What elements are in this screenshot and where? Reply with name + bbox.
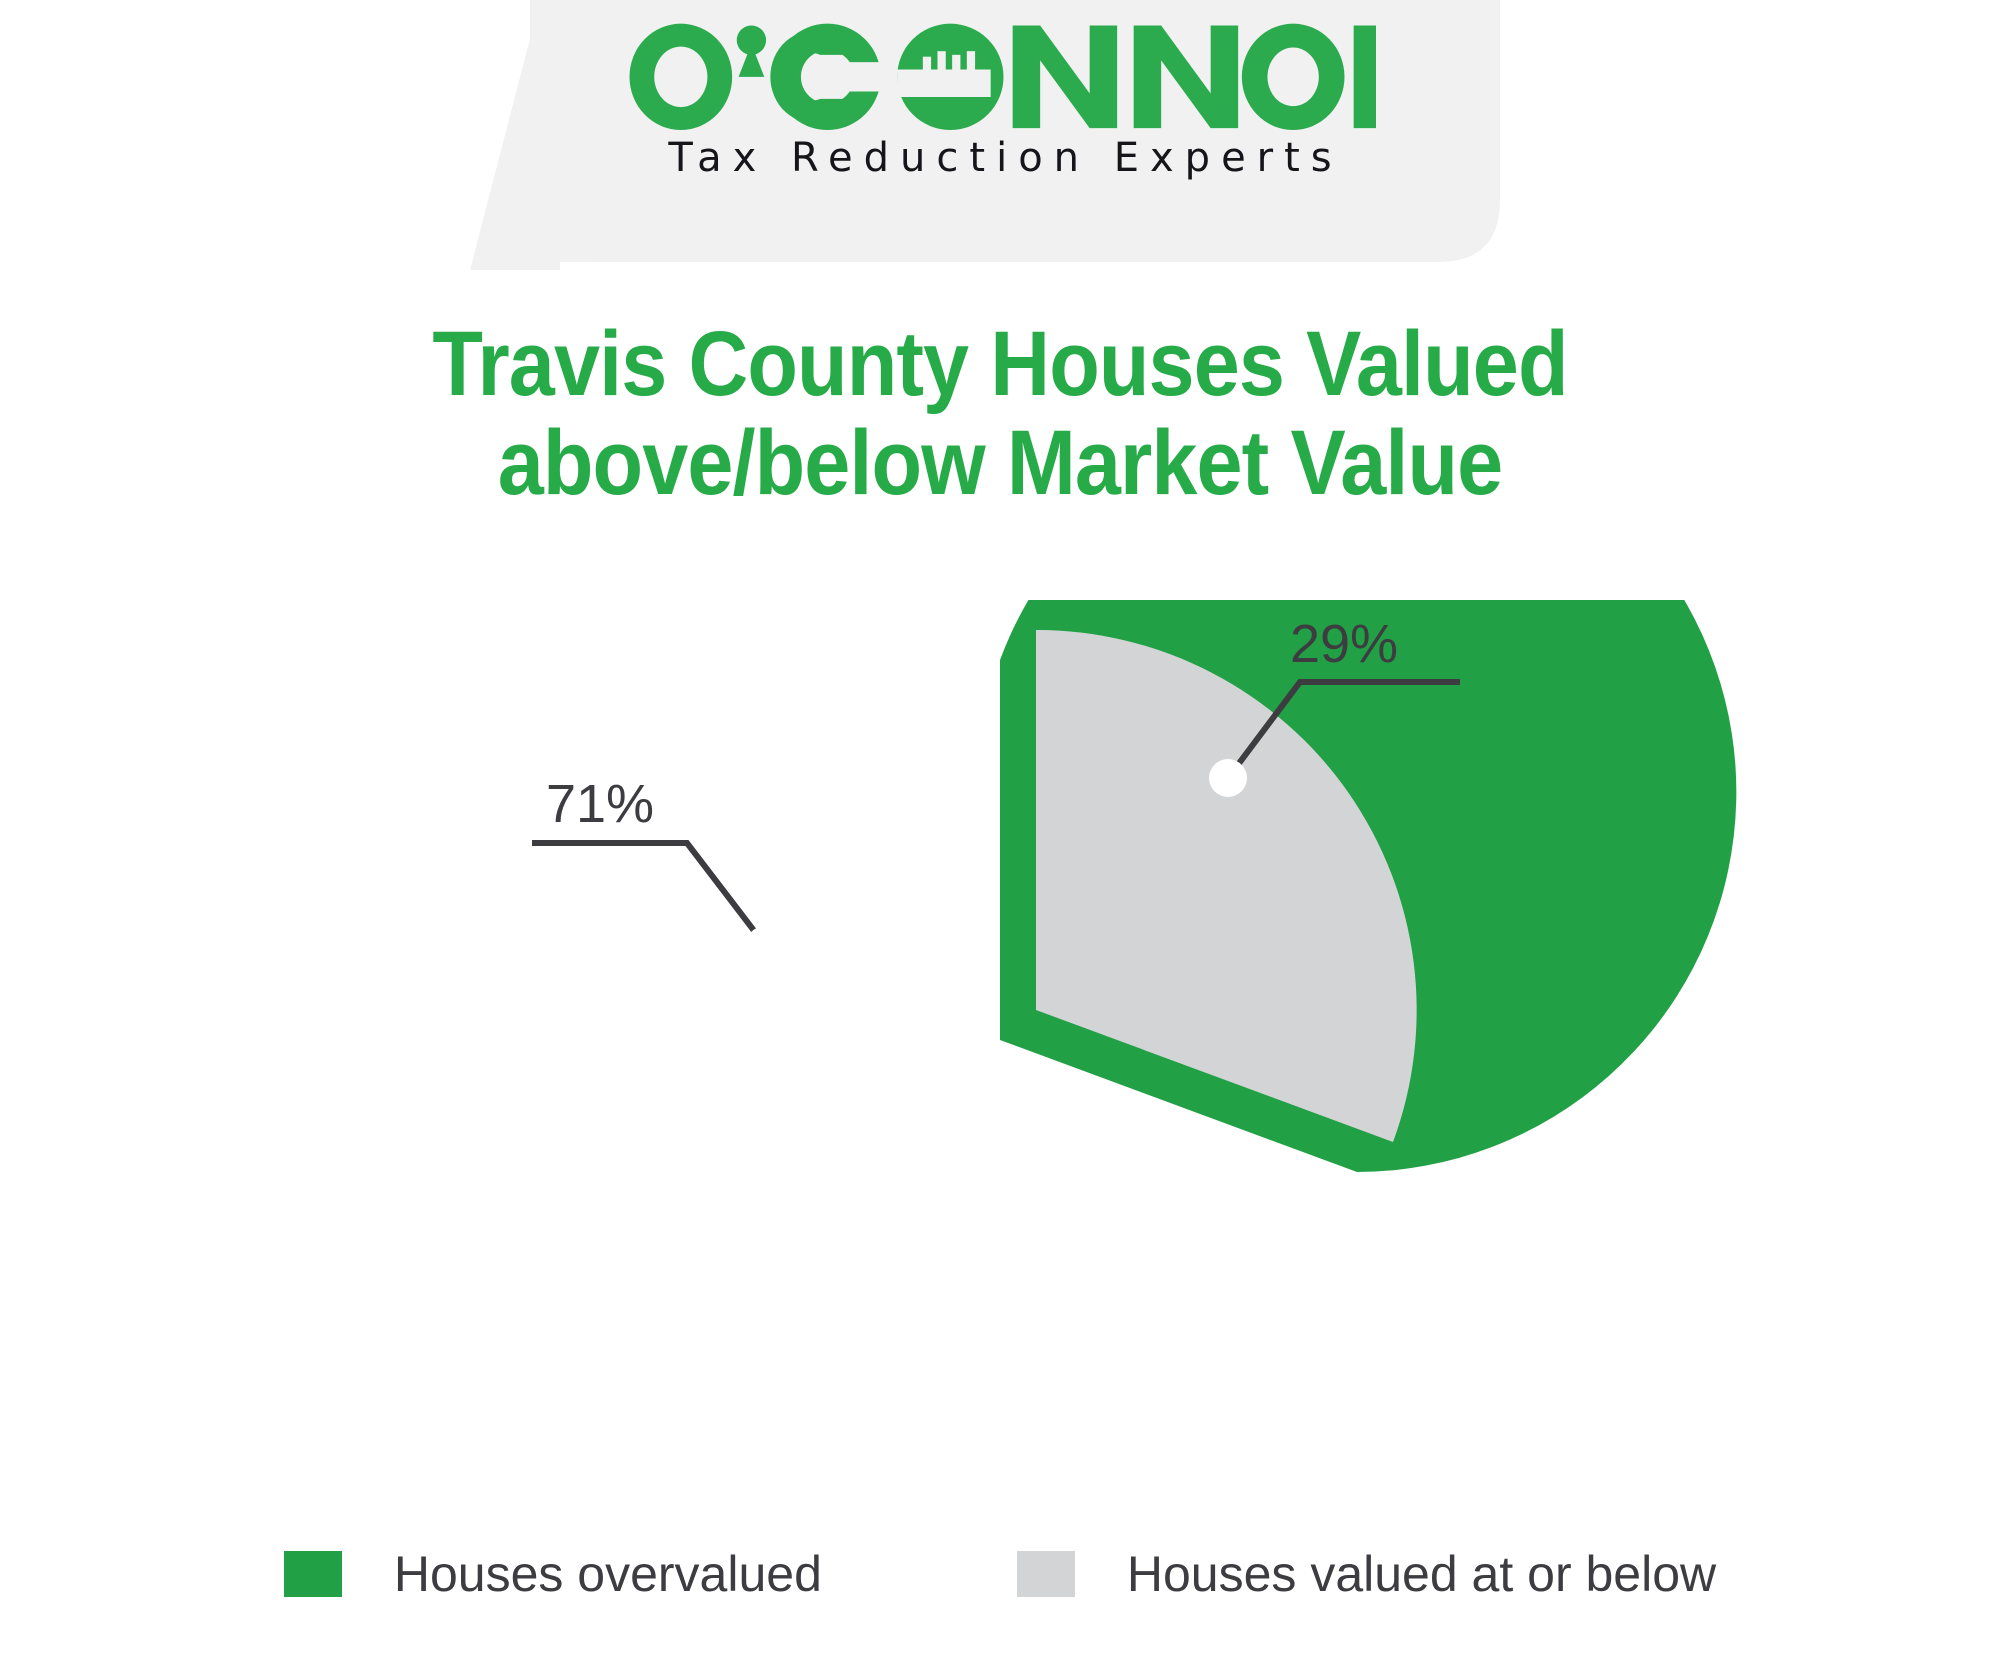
legend-item-houses-valued-at-or-below[interactable]: Houses valued at or below bbox=[1017, 1545, 1716, 1603]
legend-swatch-gray bbox=[1017, 1551, 1075, 1597]
leader-dot-29 bbox=[1209, 759, 1247, 797]
brand-tagline: Tax Reduction Experts bbox=[0, 136, 2000, 180]
slice-value-label-29: 29% bbox=[1290, 614, 1398, 674]
pie-chart: 29% 71% bbox=[0, 600, 2000, 1460]
legend-label-houses-valued-at-or-below: Houses valued at or below bbox=[1127, 1545, 1716, 1603]
legend-item-houses-overvalued[interactable]: Houses overvalued bbox=[284, 1545, 822, 1603]
page-title: Travis County Houses Valued above/below … bbox=[0, 315, 2000, 514]
leader-dot-71 bbox=[746, 926, 784, 964]
brand-logo: Tax Reduction Experts bbox=[0, 20, 2000, 180]
chart-legend: Houses overvalued Houses valued at or be… bbox=[0, 1545, 2000, 1603]
oconnor-wordmark-icon bbox=[624, 20, 1376, 130]
legend-swatch-green bbox=[284, 1551, 342, 1597]
legend-label-houses-overvalued: Houses overvalued bbox=[394, 1545, 822, 1603]
page-title-line-2: above/below Market Value bbox=[100, 414, 1900, 513]
page-title-line-1: Travis County Houses Valued bbox=[100, 315, 1900, 414]
slice-value-label-71: 71% bbox=[546, 774, 654, 834]
leader-line-71 bbox=[532, 843, 765, 945]
pie-chart-svg: 29% 71% bbox=[200, 600, 1800, 1460]
header-band: Tax Reduction Experts bbox=[0, 0, 2000, 270]
